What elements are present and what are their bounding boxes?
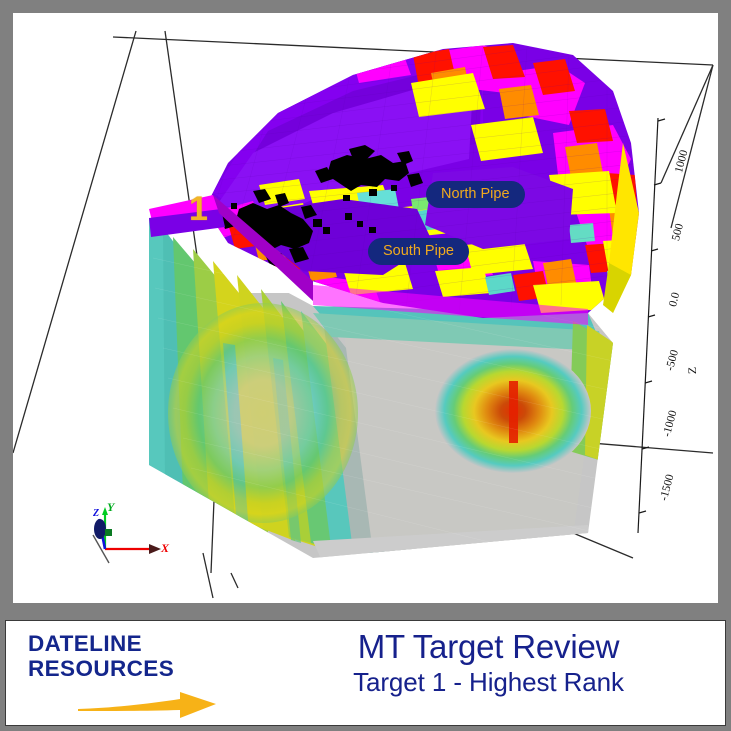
north-pipe-label[interactable]: North Pipe xyxy=(426,181,525,208)
footer-bar: DATELINE RESOURCES MT Target Review Targ… xyxy=(5,620,726,726)
z-axis-label-triad: Z xyxy=(93,508,99,519)
triad-origin-marker xyxy=(105,529,112,536)
title-sub: Target 1 - Highest Rank xyxy=(261,666,716,699)
slide-title: MT Target Review Target 1 - Highest Rank xyxy=(261,627,716,699)
logo-line-2: RESOURCES xyxy=(28,656,243,681)
z-arrow-head xyxy=(94,519,106,539)
model-viewport[interactable]: 1500 1000 500 0.0 -500 -1000 -1500 Z 1 N… xyxy=(13,13,718,603)
title-main: MT Target Review xyxy=(261,627,716,666)
logo-line-1: DATELINE xyxy=(28,631,243,656)
resistivity-top-surface xyxy=(193,33,653,333)
target-1-number: 1 xyxy=(189,190,208,229)
z-axis-title: Z xyxy=(685,367,700,374)
y-axis-label: Y xyxy=(107,500,114,515)
axis-triad-widget[interactable] xyxy=(75,493,185,583)
z-axis xyxy=(638,118,665,533)
south-pipe-label[interactable]: South Pipe xyxy=(368,238,469,265)
screenshot-root: 1500 1000 500 0.0 -500 -1000 -1500 Z 1 N… xyxy=(0,0,731,731)
company-logo[interactable]: DATELINE RESOURCES xyxy=(28,631,243,717)
arrow-icon xyxy=(76,689,224,723)
x-axis-label: X xyxy=(161,541,169,556)
x-arrow-head xyxy=(149,544,161,554)
